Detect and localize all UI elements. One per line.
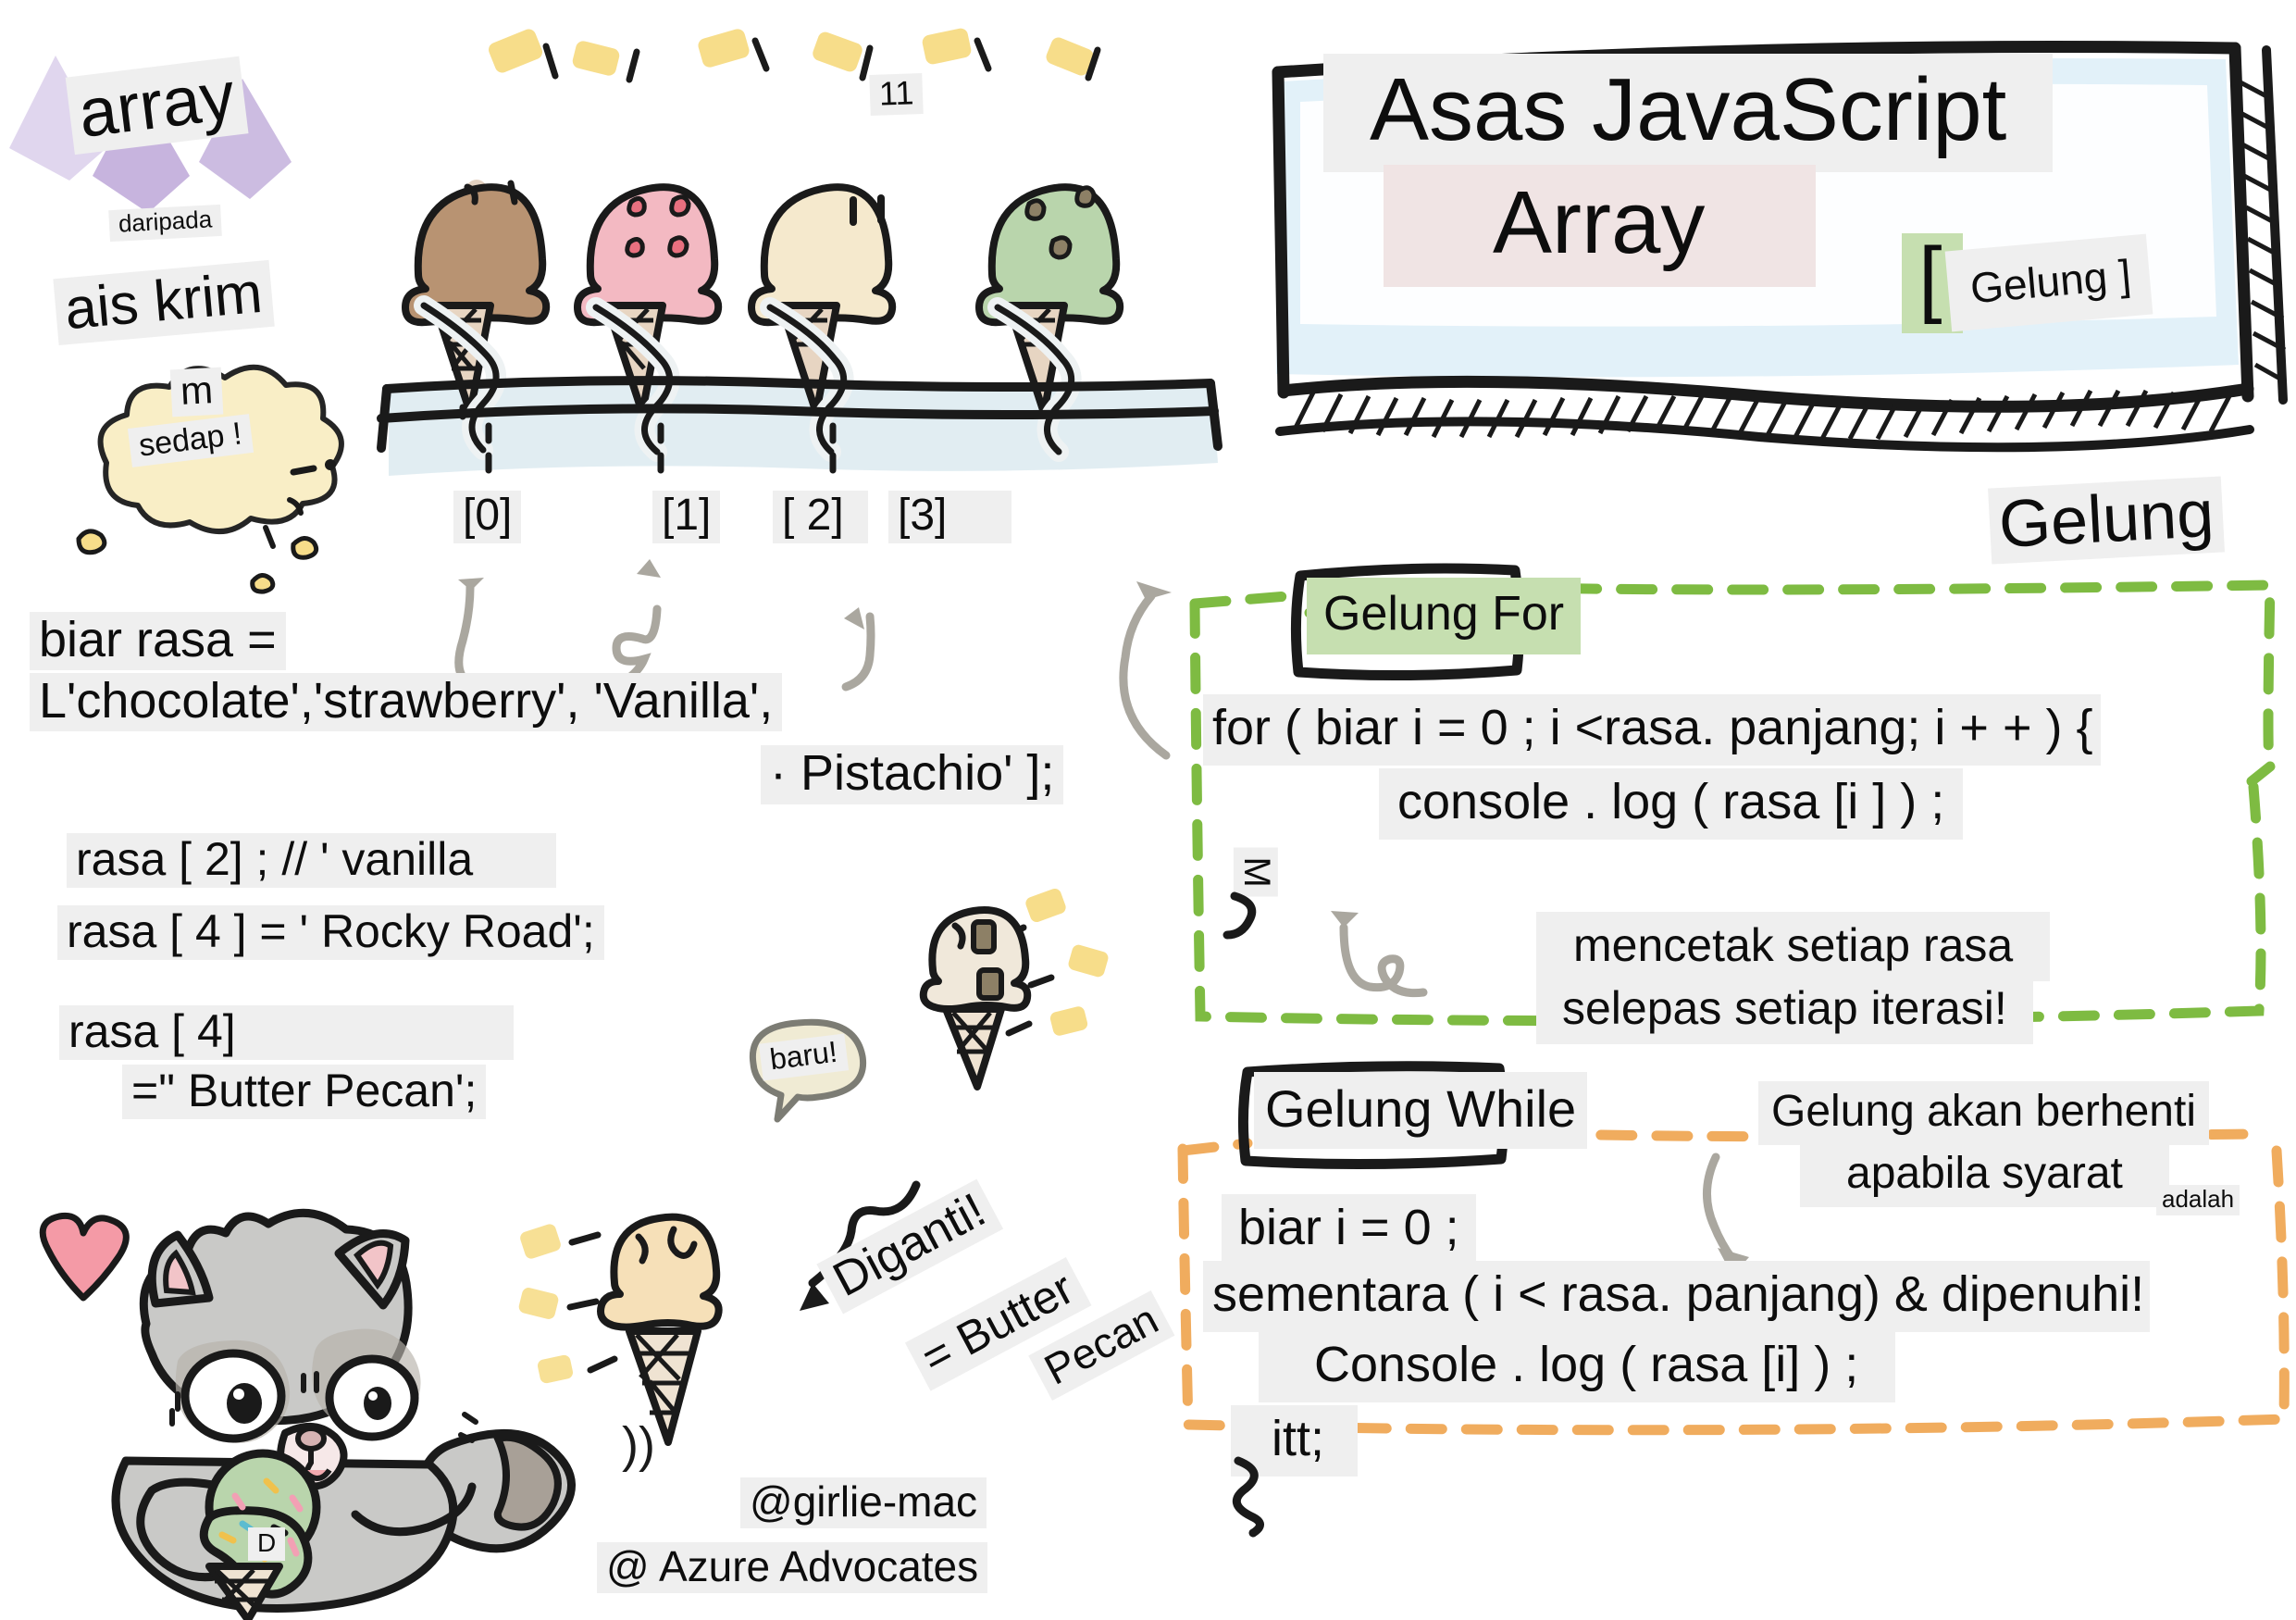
label-ais-krim-text: ais krim <box>53 260 274 345</box>
label-daripada: daripada <box>108 205 222 242</box>
label-m-text: m <box>170 368 224 417</box>
code-line-index4: rasa [ 4] <box>59 1005 514 1060</box>
credit-author-text: @girlie-mac <box>740 1477 987 1528</box>
loops-heading-text: Gelung <box>1988 476 2225 564</box>
label-daripada-text: daripada <box>108 205 222 242</box>
loops-heading: Gelung <box>1988 475 2225 564</box>
while-loop-note-line1: Gelung akan berhenti <box>1758 1081 2209 1145</box>
label-d-mark: D <box>248 1527 285 1561</box>
code-line-pistachio: · Pistachio' ]; <box>761 745 1063 804</box>
while-loop-title-text: Gelung While <box>1254 1072 1587 1149</box>
label-count-text: 11 <box>869 73 924 116</box>
ice-cream-row <box>370 111 1231 509</box>
while-loop-line2-text: sementara ( i < rasa. panjang) & dipenuh… <box>1203 1261 2150 1332</box>
while-loop-note-line2: apabila syarat <box>1800 1143 2169 1207</box>
while-loop-line2: sementara ( i < rasa. panjang) & dipenuh… <box>1203 1261 2150 1332</box>
while-loop-title: Gelung While <box>1254 1072 1587 1149</box>
raccoon-illustration <box>37 1213 574 1620</box>
array-index-1: [1] <box>652 491 720 543</box>
while-loop-line1-text: biar i = 0 ; <box>1222 1194 1476 1265</box>
while-loop-close-brace <box>1222 1453 1286 1537</box>
for-loop-note-line1-text: mencetak setiap rasa <box>1536 912 2050 981</box>
credit-org: @ Azure Advocates <box>597 1541 987 1593</box>
label-d-mark-text: D <box>248 1527 285 1561</box>
label-parens: )) <box>622 1416 655 1474</box>
while-loop-line1: biar i = 0 ; <box>1222 1194 1476 1265</box>
while-loop-note-line1-text: Gelung akan berhenti <box>1758 1081 2209 1145</box>
for-loop-line1: for ( biar i = 0 ; i <rasa. panjang; i +… <box>1203 694 2101 766</box>
code-line-values: L'chocolate','strawberry', 'Vanilla', <box>30 673 782 731</box>
while-loop-note-line2-text: apabila syarat <box>1800 1143 2169 1207</box>
code-line-index2: rasa [ 2] ; // ' vanilla <box>67 833 556 888</box>
label-parens-text: )) <box>622 1417 655 1473</box>
label-count: 11 <box>869 73 924 116</box>
title-line1: Asas JavaScript <box>1323 54 2053 172</box>
title-line1-text: Asas JavaScript <box>1323 54 2053 172</box>
array-index-3: [3] <box>888 491 1011 543</box>
while-loop-note-line3: adalah <box>2156 1185 2240 1215</box>
while-loop-line3-text: Console . log ( rasa [i] ) ; <box>1259 1331 1895 1402</box>
for-loop-brace-squiggle <box>1222 889 1277 944</box>
array-index-0: [0] <box>453 491 521 543</box>
for-loop-note-line2-text: selepas setiap iterasi! <box>1536 975 2033 1044</box>
while-loop-line3: Console . log ( rasa [i] ) ; <box>1259 1331 1895 1402</box>
code-line-butter-pecan: =" Butter Pecan'; <box>122 1065 486 1119</box>
for-loop-line1-text: for ( biar i = 0 ; i <rasa. panjang; i +… <box>1203 694 2101 766</box>
title-line2: Array <box>1384 165 1816 287</box>
while-loop-note-line3-text: adalah <box>2156 1185 2240 1215</box>
code-line-declare: biar rasa = <box>30 612 286 670</box>
code-line-rocky-road: rasa [ 4 ] = ' Rocky Road'; <box>57 905 604 960</box>
for-loop-title: Gelung For <box>1307 578 1581 654</box>
label-m: m <box>170 368 224 417</box>
for-loop-note-arrow <box>1286 879 1434 1000</box>
title-line2-text: Array <box>1384 165 1816 287</box>
credit-author: @girlie-mac <box>740 1477 987 1528</box>
label-ais-krim: ais krim <box>53 259 274 345</box>
credit-org-text: @ Azure Advocates <box>597 1542 987 1593</box>
for-loop-note-line1: mencetak setiap rasa <box>1536 912 2050 981</box>
for-loop-line2: console . log ( rasa [i ] ) ; <box>1379 768 1963 840</box>
for-loop-title-text: Gelung For <box>1307 578 1581 654</box>
for-loop-note-line2: selepas setiap iterasi! <box>1536 975 2033 1044</box>
for-loop-line2-text: console . log ( rasa [i ] ) ; <box>1379 768 1963 840</box>
array-index-2: [ 2] <box>773 491 868 543</box>
exploding-cone-icon <box>888 889 1129 1092</box>
